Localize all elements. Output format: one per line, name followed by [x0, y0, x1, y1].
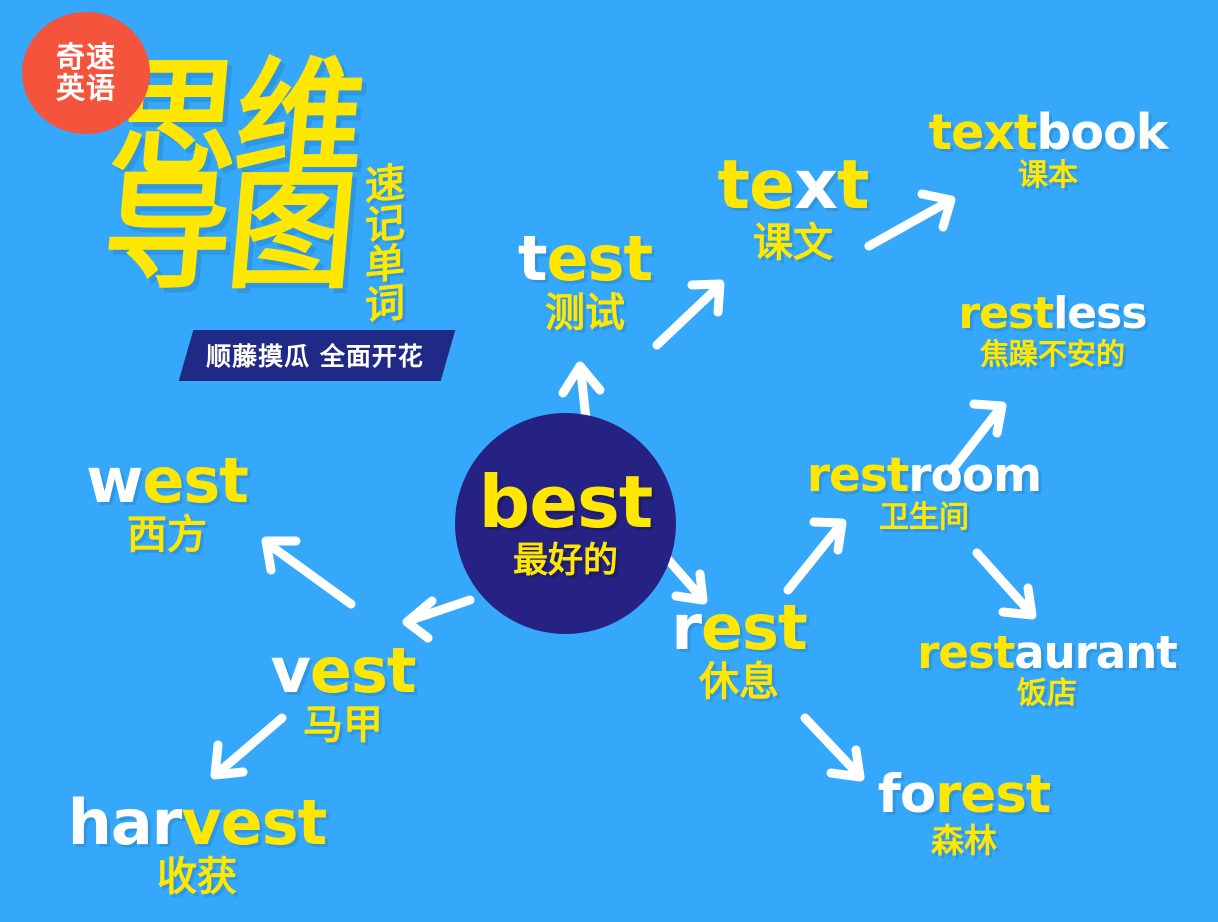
- node-harvest-word: harvest: [42, 792, 352, 854]
- node-forest-meaning: 森林: [855, 824, 1073, 859]
- brand-badge: 奇速 英语: [22, 12, 150, 134]
- center-node-word: best: [479, 466, 653, 538]
- node-west[interactable]: west 西方: [62, 450, 272, 556]
- arrow-restroom-to-restaurant: [977, 553, 1032, 615]
- node-text-meaning: 课文: [700, 222, 886, 264]
- node-restaurant[interactable]: restaurant 饭店: [893, 630, 1201, 710]
- vertical-tagline: 速记单词: [360, 161, 402, 325]
- node-restless-suffix: less: [1053, 288, 1146, 339]
- node-restless-word: restless: [920, 292, 1185, 336]
- node-forest-word: forest: [855, 768, 1073, 821]
- node-test-prefix: t: [518, 222, 547, 295]
- page-title-line2: 导图: [99, 170, 358, 295]
- node-rest-prefix: r: [671, 591, 701, 664]
- node-forest-root: rest: [935, 764, 1050, 825]
- node-restless-meaning: 焦躁不安的: [920, 339, 1185, 369]
- node-textbook[interactable]: textbook 课本: [903, 108, 1193, 192]
- node-rest[interactable]: rest 休息: [655, 597, 823, 703]
- node-text-tail: t: [837, 146, 869, 225]
- arrow-rest-to-forest: [805, 718, 860, 777]
- node-forest[interactable]: forest 森林: [855, 768, 1073, 859]
- node-restroom-suffix: room: [908, 448, 1041, 503]
- arrow-best-to-west: [266, 541, 351, 604]
- node-test-meaning: 测试: [495, 292, 675, 334]
- node-test-root: est: [547, 222, 653, 295]
- node-west-prefix: w: [86, 444, 142, 517]
- node-harvest[interactable]: harvest 收获: [42, 792, 352, 898]
- node-harvest-prefix: har: [68, 786, 182, 859]
- node-west-root: est: [142, 444, 248, 517]
- arrow-best-to-test: [563, 366, 600, 420]
- node-textbook-root: text: [929, 104, 1037, 161]
- node-restless[interactable]: restless 焦躁不安的: [920, 292, 1185, 369]
- node-rest-word: rest: [655, 597, 823, 659]
- node-vest-root: est: [310, 634, 416, 707]
- node-textbook-suffix: book: [1036, 104, 1167, 161]
- node-textbook-word: textbook: [903, 108, 1193, 157]
- node-restaurant-root: rest: [917, 626, 1014, 679]
- node-text[interactable]: text 课文: [700, 152, 886, 264]
- node-west-meaning: 西方: [62, 514, 272, 556]
- node-vest-word: vest: [250, 640, 436, 702]
- node-harvest-root: vest: [181, 786, 326, 859]
- node-restaurant-meaning: 饭店: [893, 678, 1201, 710]
- node-restroom-root: rest: [807, 448, 909, 503]
- brand-badge-line1: 奇速: [56, 42, 116, 73]
- node-restroom-meaning: 卫生间: [785, 502, 1063, 534]
- brand-badge-line2: 英语: [56, 73, 116, 104]
- node-restroom-word: restroom: [785, 452, 1063, 499]
- node-vest-meaning: 马甲: [250, 704, 436, 746]
- node-textbook-meaning: 课本: [903, 160, 1193, 192]
- node-west-word: west: [62, 450, 272, 512]
- arrow-best-to-vest: [407, 600, 470, 638]
- node-text-word: text: [700, 152, 886, 220]
- node-rest-meaning: 休息: [655, 661, 823, 703]
- subtitle-ribbon: 顺藤摸瓜 全面开花: [179, 330, 455, 381]
- node-text-mid: x: [794, 146, 837, 225]
- center-node-meaning: 最好的: [513, 542, 618, 581]
- node-restroom[interactable]: restroom 卫生间: [785, 452, 1063, 534]
- subtitle-ribbon-text: 顺藤摸瓜 全面开花: [206, 337, 424, 373]
- node-vest[interactable]: vest 马甲: [250, 640, 436, 746]
- node-rest-root: est: [701, 591, 807, 664]
- node-vest-prefix: v: [270, 634, 309, 707]
- node-restless-root: rest: [958, 288, 1053, 339]
- node-restaurant-suffix: aurant: [1014, 626, 1177, 679]
- node-test-word: test: [495, 228, 675, 290]
- node-forest-prefix: fo: [878, 764, 935, 825]
- center-node-best[interactable]: best 最好的: [455, 413, 676, 634]
- node-restaurant-word: restaurant: [893, 630, 1201, 675]
- node-text-root: te: [717, 146, 794, 225]
- node-test[interactable]: test 测试: [495, 228, 675, 334]
- mindmap-canvas: .ar{stroke:#ffffff;stroke-width:9;stroke…: [0, 0, 1218, 922]
- node-harvest-meaning: 收获: [42, 856, 352, 898]
